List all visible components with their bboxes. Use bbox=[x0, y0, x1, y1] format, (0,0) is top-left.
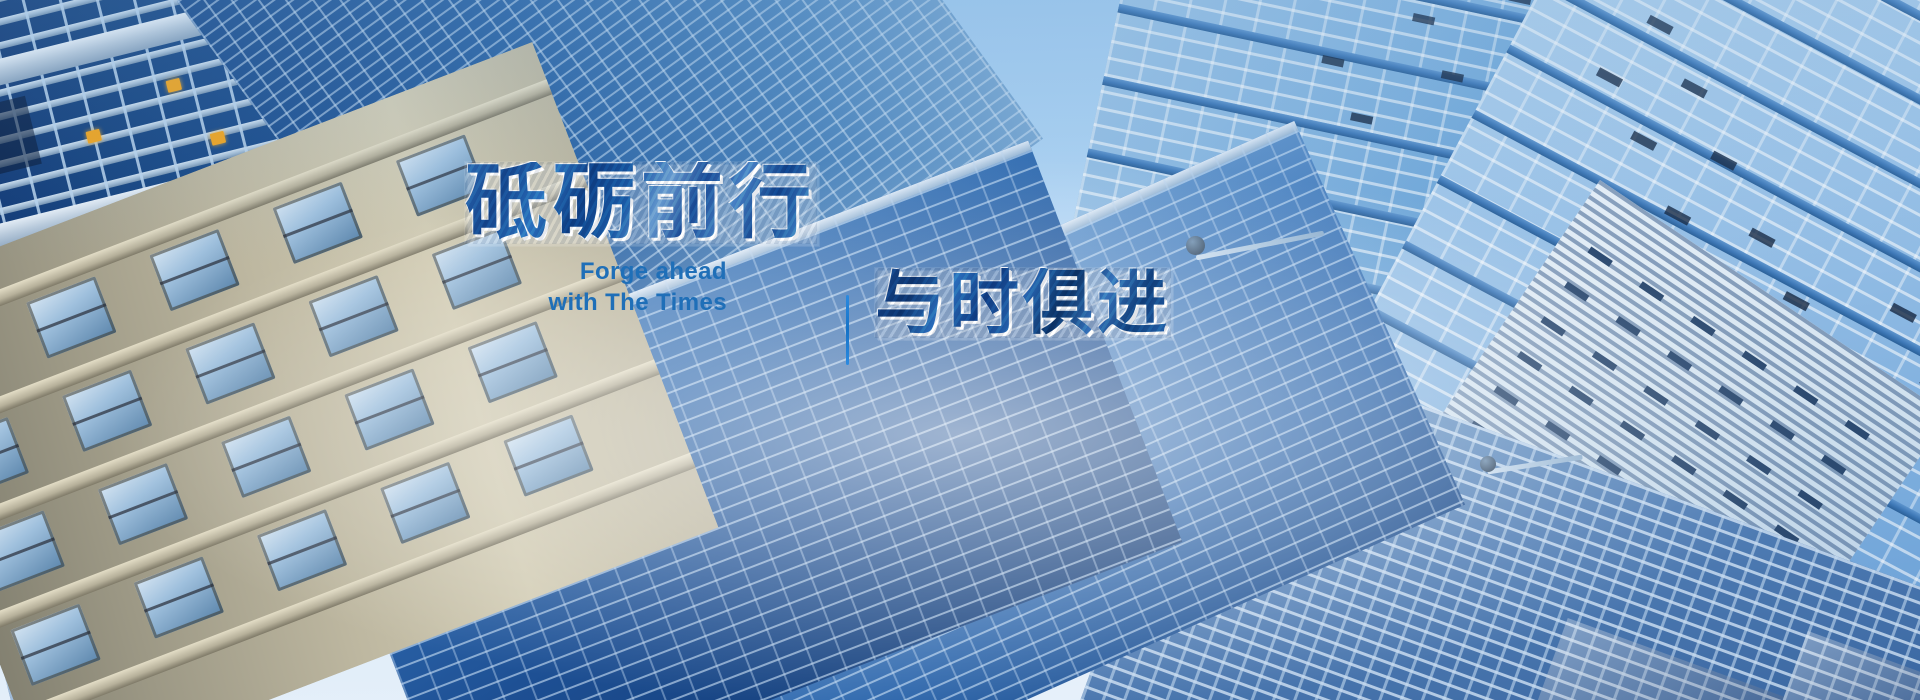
vertical-divider bbox=[846, 295, 849, 365]
window-mullion bbox=[319, 302, 389, 331]
headline-chinese: 砥砺前行 bbox=[465, 162, 817, 244]
hero-banner: 砥砺前行 Forge ahead with The Times 与时俱进 bbox=[0, 0, 1920, 700]
window-mullion bbox=[267, 536, 337, 565]
stone-window bbox=[0, 417, 29, 500]
window-mullion bbox=[231, 442, 301, 471]
window-mullion bbox=[36, 303, 106, 332]
window-mullion bbox=[72, 396, 142, 425]
window-mullion bbox=[195, 349, 265, 378]
window-mullion bbox=[108, 490, 178, 519]
dark-slot-window bbox=[1890, 303, 1917, 323]
tagline-line-2: with The Times bbox=[477, 287, 727, 318]
window-mullion bbox=[390, 489, 460, 518]
window-mullion bbox=[283, 208, 353, 237]
subhead-chinese: 与时俱进 bbox=[875, 268, 1171, 338]
window-mullion bbox=[514, 441, 584, 470]
lit-window bbox=[166, 78, 182, 93]
mast-sphere-right bbox=[1480, 456, 1496, 472]
tagline-english: Forge ahead with The Times bbox=[477, 256, 727, 318]
banner-copy: 砥砺前行 Forge ahead with The Times 与时俱进 bbox=[455, 150, 1015, 380]
window-mullion bbox=[21, 630, 91, 659]
stone-window bbox=[0, 510, 65, 593]
lit-window bbox=[210, 131, 226, 146]
dark-slot-window bbox=[1748, 228, 1775, 248]
window-mullion bbox=[144, 583, 214, 612]
window-mullion bbox=[0, 537, 55, 566]
tagline-line-1: Forge ahead bbox=[477, 256, 727, 287]
mast-sphere-upper-right bbox=[1186, 236, 1205, 255]
window-mullion bbox=[160, 256, 230, 285]
window-mullion bbox=[0, 444, 19, 473]
window-mullion bbox=[354, 395, 424, 424]
